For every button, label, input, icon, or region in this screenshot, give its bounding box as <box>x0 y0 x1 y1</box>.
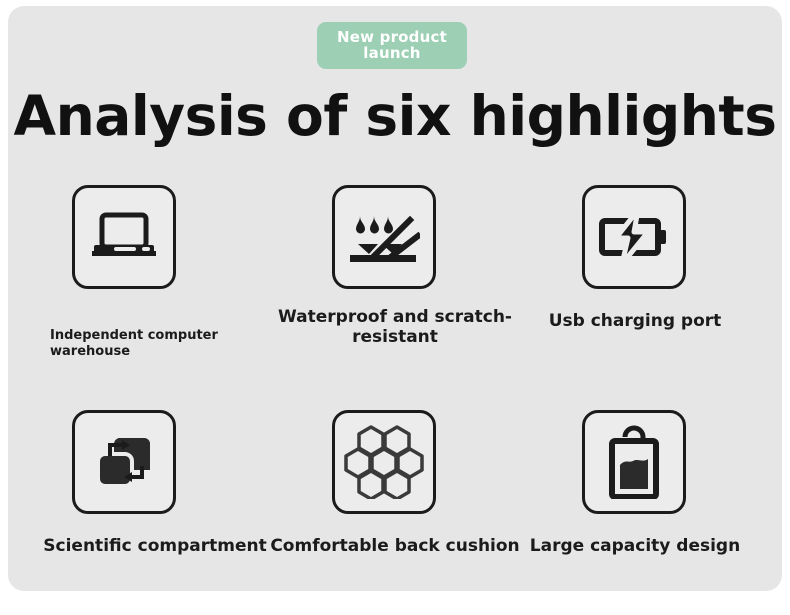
feature-icon-box <box>72 410 176 514</box>
feature-icon-box <box>332 185 436 289</box>
feature-label: Comfortable back cushion <box>270 536 520 556</box>
battery-bolt-icon <box>598 210 670 264</box>
feature-label: Scientific compartment <box>30 536 280 556</box>
new-product-launch-badge: New product launch <box>317 22 467 69</box>
feature-card-independent-computer-warehouse: Independent computer warehouse <box>30 185 280 289</box>
feature-card-waterproof-scratch-resistant: Waterproof and scratch-resistant <box>270 185 520 348</box>
feature-icon-box <box>72 185 176 289</box>
feature-card-scientific-compartment: Scientific compartment <box>30 410 280 556</box>
filled-bag-icon <box>605 425 663 499</box>
feature-icon-box <box>582 185 686 289</box>
feature-card-large-capacity-design: Large capacity design <box>510 410 760 556</box>
feature-label: Waterproof and scratch-resistant <box>270 307 520 348</box>
feature-card-comfortable-back-cushion: Comfortable back cushion <box>270 410 520 556</box>
feature-label: Usb charging port <box>510 311 760 331</box>
feature-icon-box <box>582 410 686 514</box>
page-title: Analysis of six highlights <box>0 84 790 148</box>
laptop-icon <box>90 211 158 263</box>
waterproof-scratch-icon <box>348 206 420 268</box>
honeycomb-icon <box>344 425 424 499</box>
badge-label: New product launch <box>317 30 467 62</box>
feature-icon-box <box>332 410 436 514</box>
promo-poster: New product launch Analysis of six highl… <box>0 0 790 615</box>
feature-card-usb-charging-port: Usb charging port <box>510 185 760 331</box>
feature-label: Large capacity design <box>510 536 760 556</box>
feature-label: Independent computer warehouse <box>50 328 265 361</box>
swap-compartments-icon <box>92 432 156 492</box>
